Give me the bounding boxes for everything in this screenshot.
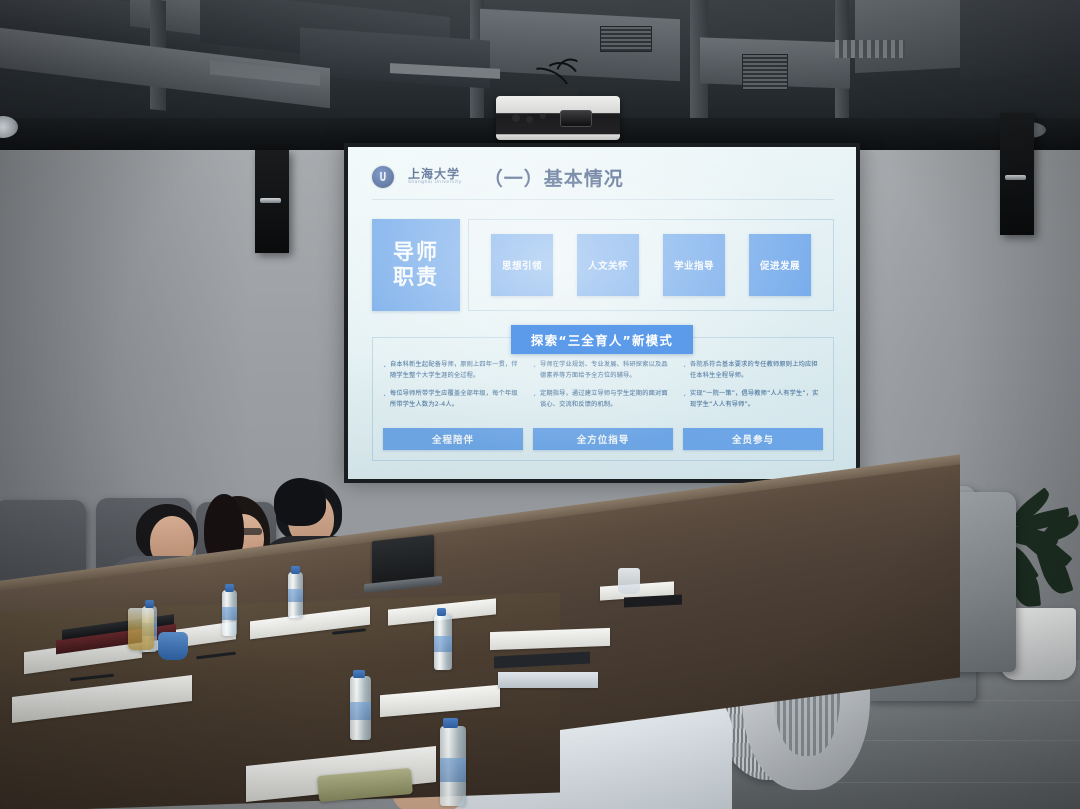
duty-label-line2: 职责 [393, 265, 439, 290]
bullet-list: 导师在学业规划、专业发展、科研探索以及品德素养等方面给予全方位的辅导。 定期指导… [533, 360, 673, 417]
duty-item: 思想引领 [491, 234, 553, 296]
three-column-panel: 自本科新生起配备导师，原则上四年一贯，伴随学生整个大学生涯的全过程。 每位导师所… [372, 337, 834, 461]
conference-room-photo: U 上海大学 Shanghai University （一）基本情况 导师 职责… [0, 0, 1080, 809]
projector-knob [540, 113, 546, 119]
ceiling-vent [600, 26, 652, 52]
university-name-cn: 上海大学 [408, 168, 462, 181]
hair-front [274, 478, 326, 526]
blue-bottle [158, 632, 188, 660]
paper-document [498, 672, 598, 688]
ceiling-duct [960, 0, 1080, 80]
wall-speaker-right [1000, 113, 1034, 235]
shanghai-university-logo-icon: U [372, 166, 394, 188]
duty-items-container: 思想引领 人文关怀 学业指导 促进发展 [468, 219, 834, 311]
bullet-item: 各院系符合基本要求的专任教师原则上均应担任本科生全程导师。 [683, 360, 823, 382]
bullet-item: 导师在学业规划、专业发展、科研探索以及品德素养等方面给予全方位的辅导。 [533, 360, 673, 382]
column-button: 全程陪伴 [383, 428, 523, 450]
column-button: 全员参与 [683, 428, 823, 450]
water-bottle [350, 676, 371, 740]
water-bottle [222, 590, 237, 636]
water-bottle [288, 572, 303, 618]
projector-knob [526, 116, 533, 123]
column: 各院系符合基本要求的专任教师原则上均应担任本科生全程导师。 实现“一院一策”，倡… [683, 360, 823, 450]
duty-item: 学业指导 [663, 234, 725, 296]
paper-cup [618, 568, 640, 594]
presentation-slide: U 上海大学 Shanghai University （一）基本情况 导师 职责… [348, 147, 856, 479]
ceiling-grille [835, 40, 905, 58]
tea-glass [128, 608, 154, 650]
duty-label-box: 导师 职责 [372, 219, 460, 311]
water-bottle [440, 726, 466, 806]
ceiling-duct [855, 0, 975, 73]
bullet-item: 自本科新生起配备导师，原则上四年一贯，伴随学生整个大学生涯的全过程。 [383, 360, 523, 382]
duty-item: 促进发展 [749, 234, 811, 296]
water-bottle [434, 614, 452, 670]
university-name: 上海大学 Shanghai University [408, 168, 462, 185]
slide-header: U 上海大学 Shanghai University （一）基本情况 [372, 159, 834, 195]
projector-knob [512, 114, 520, 122]
slide-banner: 探索“三全育人”新模式 [511, 325, 693, 354]
column: 自本科新生起配备导师，原则上四年一贯，伴随学生整个大学生涯的全过程。 每位导师所… [383, 360, 523, 450]
duty-item: 人文关怀 [577, 234, 639, 296]
projection-screen: U 上海大学 Shanghai University （一）基本情况 导师 职责… [348, 147, 856, 479]
wall-speaker-left [255, 150, 289, 253]
bullet-item: 实现“一院一策”，倡导教师“人人有学生”，实现学生“人人有导师”。 [683, 389, 823, 411]
bullet-list: 各院系符合基本要求的专任教师原则上均应担任本科生全程导师。 实现“一院一策”，倡… [683, 360, 823, 417]
banner-row: 探索“三全育人”新模式 [348, 325, 856, 354]
header-divider [372, 199, 834, 200]
ceiling-vent [742, 54, 788, 90]
bullet-list: 自本科新生起配备导师，原则上四年一贯，伴随学生整个大学生涯的全过程。 每位导师所… [383, 360, 523, 417]
duty-label-line1: 导师 [393, 240, 439, 265]
column: 导师在学业规划、专业发展、科研探索以及品德素养等方面给予全方位的辅导。 定期指导… [533, 360, 673, 450]
bullet-item: 每位导师所带学生应覆盖全部年级，每个年级所带学生人数为2-4人。 [383, 389, 523, 411]
floor-seam [800, 782, 1080, 783]
logo-mark: U [379, 171, 386, 183]
bullet-item: 定期指导，通过建立导师与学生定期的面对面谈心、交流和反馈的机制。 [533, 389, 673, 411]
university-name-en: Shanghai University [408, 181, 462, 185]
projector-lens [560, 110, 592, 127]
slide-title: （一）基本情况 [484, 164, 624, 191]
duty-row: 导师 职责 思想引领 人文关怀 学业指导 促进发展 [372, 219, 834, 311]
column-button: 全方位指导 [533, 428, 673, 450]
